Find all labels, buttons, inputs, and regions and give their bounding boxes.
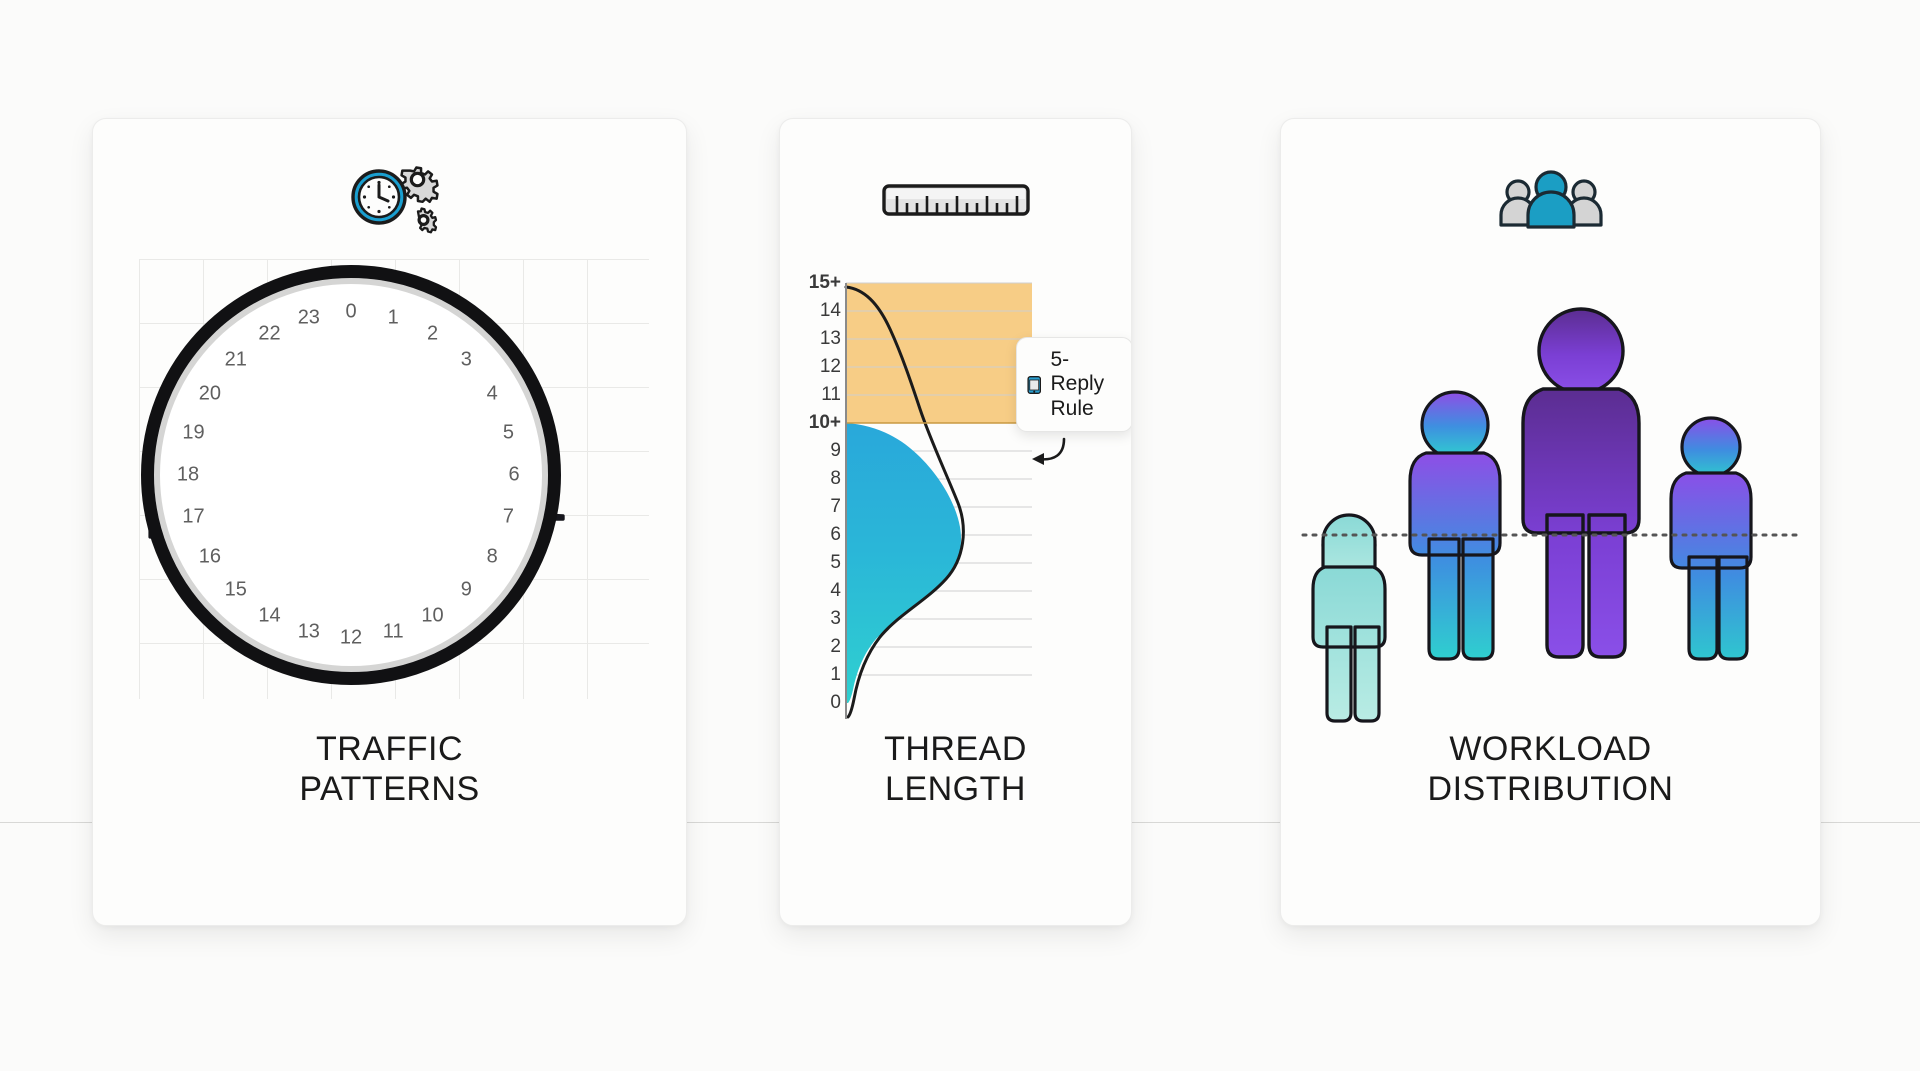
- clock-hour-21: 21: [225, 348, 247, 371]
- workload-figure-1: [1313, 515, 1385, 721]
- clock-hour-4: 4: [487, 382, 498, 405]
- clock-hour-5: 5: [503, 421, 514, 444]
- card-title-workload: WORKLOAD DISTRIBUTION: [1281, 729, 1820, 809]
- clock-hour-13: 13: [298, 621, 320, 644]
- clock-hour-22: 22: [258, 322, 280, 345]
- clock-hour-20: 20: [199, 382, 221, 405]
- clock-hour-numbers: 01234567891011121314151617181920212223: [141, 265, 561, 685]
- workload-figure-3: [1523, 309, 1639, 657]
- clock-hour-9: 9: [461, 579, 472, 602]
- workload-figure-4: [1671, 418, 1751, 659]
- clock-hour-19: 19: [182, 421, 204, 444]
- mobile-phone-icon: [1027, 368, 1041, 402]
- clock-hour-12: 12: [340, 627, 362, 650]
- callout-arrowhead: [1032, 453, 1044, 465]
- clock-hour-15: 15: [225, 579, 247, 602]
- clock-hour-0: 0: [345, 301, 356, 324]
- ruler-icon: [780, 157, 1131, 243]
- clock-hour-10: 10: [421, 605, 443, 628]
- clock-hour-17: 17: [182, 506, 204, 529]
- card-title-traffic: TRAFFIC PATTERNS: [93, 729, 686, 809]
- clock-hour-6: 6: [508, 464, 519, 487]
- clock-hour-14: 14: [258, 605, 280, 628]
- clock-hour-7: 7: [503, 506, 514, 529]
- people-group-icon: [1281, 157, 1820, 243]
- clock-hour-3: 3: [461, 348, 472, 371]
- clock-hour-8: 8: [487, 545, 498, 568]
- infographic-canvas: 01234567891011121314151617181920212223 T…: [0, 0, 1920, 1071]
- traffic-clock-chart: 01234567891011121314151617181920212223: [93, 247, 687, 707]
- callout-five-reply-rule[interactable]: 5-Reply Rule: [1016, 337, 1132, 432]
- thread-length-chart: 15+1413121110+9876543210: [780, 259, 1132, 759]
- clock-hour-23: 23: [298, 306, 320, 329]
- clock-hour-18: 18: [177, 464, 199, 487]
- clock-hour-11: 11: [383, 621, 404, 644]
- clock-hour-2: 2: [427, 322, 438, 345]
- card-workload-distribution[interactable]: WORKLOAD DISTRIBUTION: [1280, 118, 1821, 926]
- clock-gear-icon: [93, 157, 686, 243]
- clock-hour-1: 1: [388, 306, 399, 329]
- callout-label: 5-Reply Rule: [1050, 348, 1118, 421]
- clock-hour-16: 16: [199, 545, 221, 568]
- card-thread-length[interactable]: 15+1413121110+9876543210: [779, 118, 1132, 926]
- card-traffic-patterns[interactable]: 01234567891011121314151617181920212223 T…: [92, 118, 687, 926]
- workload-chart: [1281, 247, 1821, 747]
- card-title-thread: THREAD LENGTH: [780, 729, 1131, 809]
- workload-figure-2: [1410, 392, 1500, 659]
